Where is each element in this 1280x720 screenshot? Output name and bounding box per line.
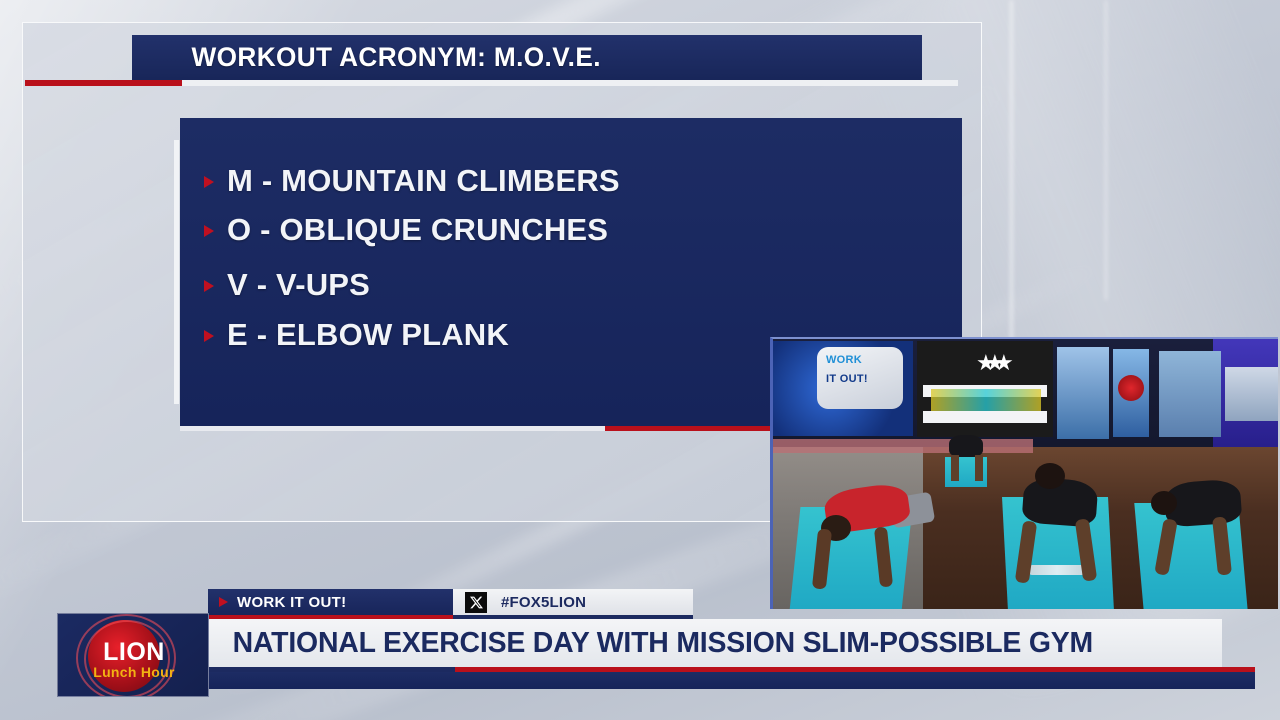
studio-phone-screen: [1113, 349, 1149, 437]
red-triangle-bullet-icon: [204, 280, 214, 292]
dumbbell: [1029, 565, 1085, 575]
list-left-accent: [174, 140, 179, 404]
graphic-title: WORKOUT ACRONYM: M.O.V.E.: [139, 42, 601, 73]
studio-screen-4: [1225, 367, 1278, 421]
headline-text: NATIONAL EXERCISE DAY WITH MISSION SLIM-…: [217, 627, 1093, 660]
title-red-accent: [25, 80, 182, 86]
lion-bug-icon: [1118, 375, 1144, 401]
headline-bottom-bar: [208, 672, 1255, 689]
studio-screen-3: [1159, 351, 1221, 437]
red-triangle-bullet-icon: [204, 330, 214, 342]
hashtag-label: #FOX5LION: [501, 594, 586, 611]
work-it-out-line2: IT OUT!: [826, 374, 903, 385]
segment-label-bar: WORK IT OUT!: [208, 589, 453, 615]
list-item: M - MOUNTAIN CLIMBERS: [204, 163, 620, 199]
red-triangle-bullet-icon: [204, 225, 214, 237]
logo-tagline: Lunch Hour: [58, 664, 209, 680]
background-line: [1105, 0, 1107, 300]
red-triangle-bullet-icon: [204, 176, 214, 188]
logo-name: LION: [58, 638, 209, 667]
social-bar: #FOX5LION: [453, 589, 693, 615]
list-item-label: M - MOUNTAIN CLIMBERS: [227, 163, 620, 199]
list-item-label: V - V-UPS: [227, 267, 370, 303]
list-white-accent: [180, 426, 605, 431]
work-it-out-graphic: WORK IT OUT!: [817, 347, 903, 409]
list-item-label: E - ELBOW PLANK: [227, 317, 509, 353]
headline-bar: NATIONAL EXERCISE DAY WITH MISSION SLIM-…: [208, 619, 1222, 667]
list-item-label: O - OBLIQUE CRUNCHES: [227, 212, 608, 248]
studio-screen-2: [1057, 347, 1109, 439]
x-twitter-icon: [465, 592, 487, 613]
live-video-inset: WORK IT OUT! ★ ★ ★: [770, 337, 1278, 609]
background-line: [1010, 0, 1013, 340]
list-item: V - V-UPS: [204, 267, 370, 303]
broadcast-screen: WORKOUT ACRONYM: M.O.V.E. M - MOUNTAIN C…: [0, 0, 1280, 720]
graphic-title-bar: WORKOUT ACRONYM: M.O.V.E.: [132, 35, 922, 80]
list-item: O - OBLIQUE CRUNCHES: [204, 212, 608, 248]
list-item: E - ELBOW PLANK: [204, 317, 509, 353]
studio-baseboard: [773, 439, 1033, 453]
title-white-accent: [182, 80, 958, 86]
lion-lunch-hour-logo: LION Lunch Hour: [57, 613, 209, 697]
segment-label: WORK IT OUT!: [237, 594, 346, 611]
dc-flag-stars: ★ ★ ★: [917, 341, 1053, 352]
red-triangle-bullet-icon: [219, 597, 228, 607]
dc-flag-bar: [923, 411, 1047, 423]
dc-flag-graphic: ★ ★ ★: [917, 341, 1053, 437]
work-it-out-line1: WORK: [817, 347, 903, 366]
